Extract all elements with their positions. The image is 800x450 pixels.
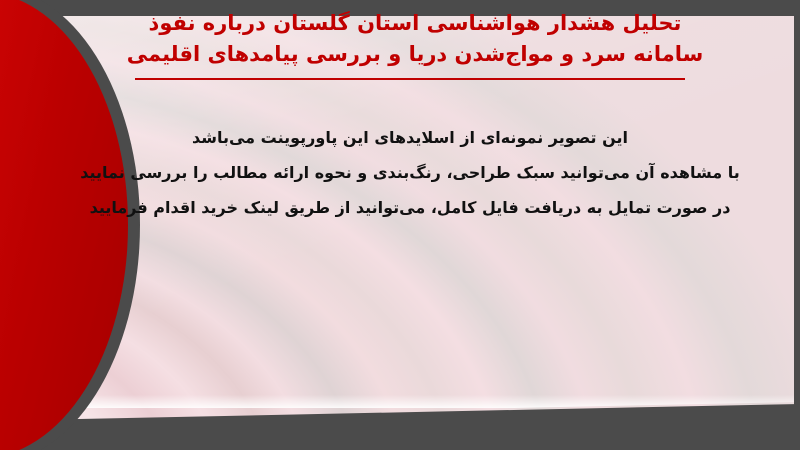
right-frame-band bbox=[794, 0, 800, 450]
presentation-slide: تحلیل هشدار هواشناسی استان گلستان درباره… bbox=[0, 0, 800, 450]
bottom-frame-band bbox=[0, 420, 800, 450]
top-frame-band bbox=[0, 0, 800, 16]
